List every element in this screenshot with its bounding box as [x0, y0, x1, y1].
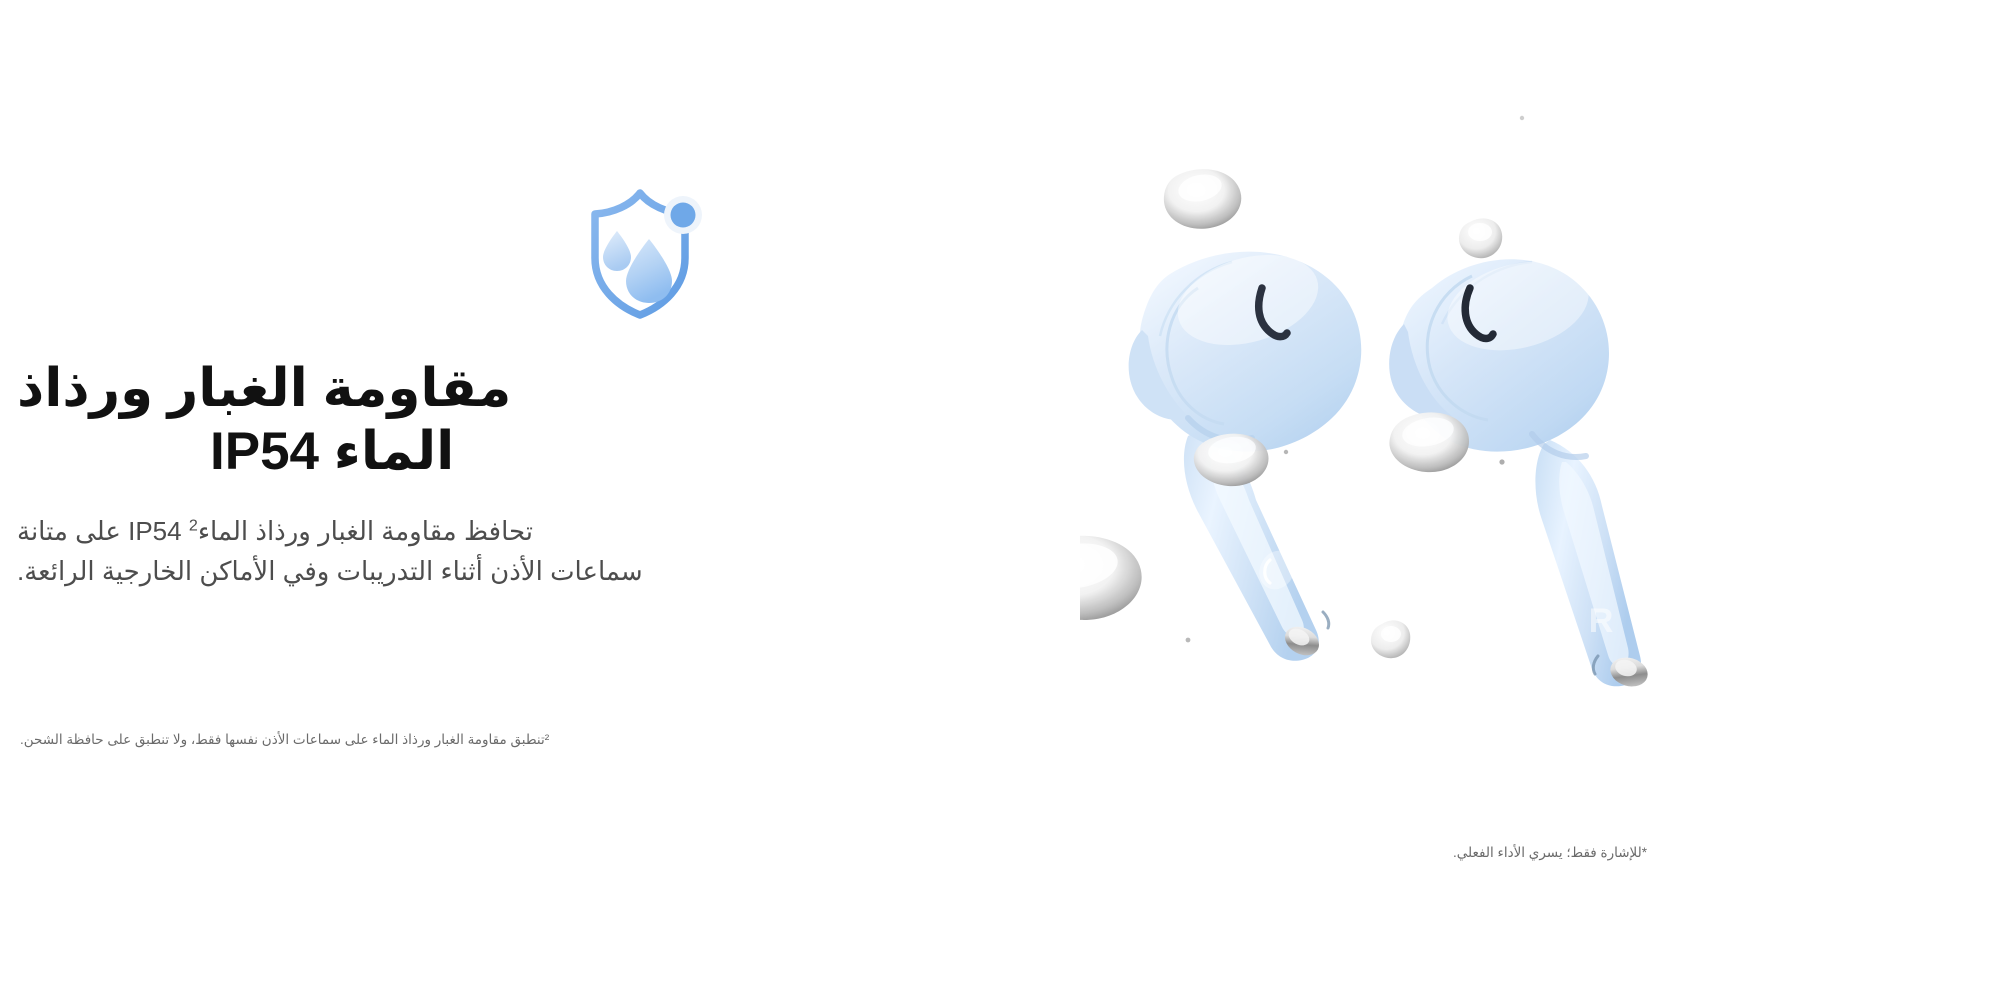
earbud-right-marking: R: [1589, 602, 1614, 640]
footnote-text: تنطبق مقاومة الغبار ورذاذ الماء على سماع…: [20, 732, 545, 747]
description-text-a: تحافظ مقاومة الغبار ورذاذ الماء: [198, 516, 533, 546]
feature-headline: مقاومة الغبار ورذاذ الماء IP54: [5, 358, 880, 483]
description-text-b: IP54 على متانة: [17, 516, 189, 546]
feature-section: مقاومة الغبار ورذاذ الماء IP54 تحافظ مقا…: [0, 0, 2000, 1000]
footnote-marker: ²: [545, 732, 550, 747]
droplet-speck: [1186, 638, 1191, 643]
description-line-2: سماعات الأذن أثناء التدريبات وفي الأماكن…: [5, 552, 880, 592]
text-column: مقاومة الغبار ورذاذ الماء IP54 تحافظ مقا…: [0, 0, 880, 1000]
feature-footnote: ²تنطبق مقاومة الغبار ورذاذ الماء على سما…: [10, 730, 880, 750]
description-superscript: 2: [189, 516, 198, 534]
description-line-1: تحافظ مقاومة الغبار ورذاذ الماء2 IP54 عل…: [5, 512, 880, 552]
droplet-speck: [1284, 450, 1288, 454]
droplet-speck: [1499, 459, 1504, 464]
water-dust-resistance-shield-icon: [565, 183, 715, 323]
product-disclaimer: *للإشارة فقط؛ يسري الأداء الفعلي.: [1380, 845, 1720, 861]
disclaimer-marker: *: [1642, 845, 1647, 860]
droplet-speck: [1520, 116, 1524, 120]
disclaimer-text: للإشارة فقط؛ يسري الأداء الفعلي.: [1453, 845, 1642, 860]
headline-line-2: الماء IP54: [5, 421, 880, 484]
headline-line-1: مقاومة الغبار ورذاذ: [5, 358, 880, 421]
feature-description: تحافظ مقاومة الغبار ورذاذ الماء2 IP54 عل…: [5, 512, 880, 591]
